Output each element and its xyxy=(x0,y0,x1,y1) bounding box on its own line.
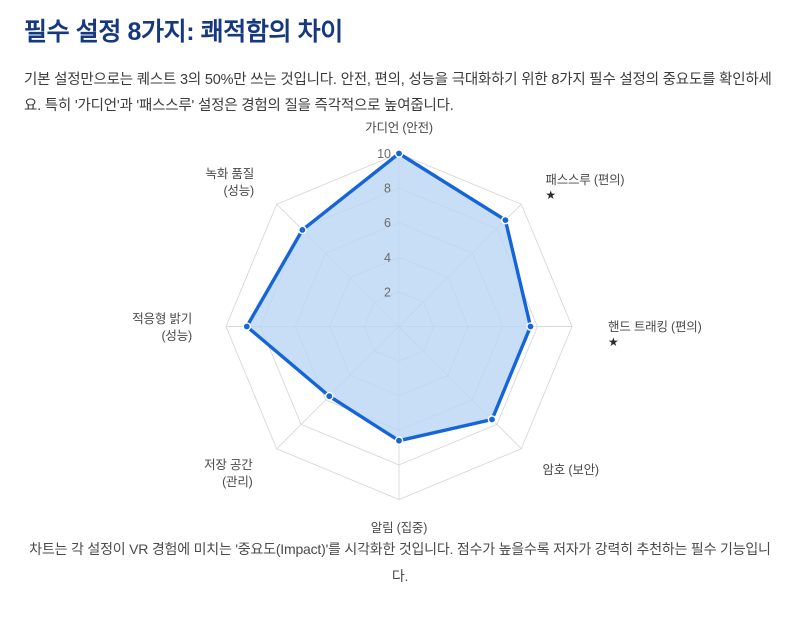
radar-axis-label-line: 알림 (집중) xyxy=(371,520,427,537)
radar-chart: 246810 가디언 (안전)패스스루 (편의)★핸드 트래킹 (편의)★암호 … xyxy=(0,126,800,536)
radar-data-point xyxy=(395,150,402,157)
intro-paragraph: 기본 설정만으로는 퀘스트 3의 50%만 쓰는 것입니다. 안전, 편의, 성… xyxy=(24,67,776,121)
radar-axis-label-line: (성능) xyxy=(132,328,192,345)
radar-axis-label-line: 적응형 밝기 xyxy=(132,311,192,328)
radar-axis-label: 알림 (집중) xyxy=(371,520,427,537)
radar-data-point xyxy=(326,393,333,400)
radar-tick-label: 4 xyxy=(384,251,391,265)
radar-data-point xyxy=(243,323,250,330)
radar-data-point xyxy=(488,416,495,423)
radar-axis-label-line: 저장 공간 xyxy=(204,457,252,474)
radar-tick-label: 10 xyxy=(377,147,391,161)
radar-axis-label-line: 녹화 품질 xyxy=(206,166,254,183)
radar-tick-label: 8 xyxy=(384,182,391,196)
page-title: 필수 설정 8가지: 쾌적함의 차이 xyxy=(24,16,776,49)
star-icon: ★ xyxy=(608,336,702,350)
radar-axis-label: 핸드 트래킹 (편의)★ xyxy=(608,319,702,350)
radar-data-point xyxy=(502,217,509,224)
radar-axis-label-line: (성능) xyxy=(206,183,254,200)
radar-axis-label: 패스스루 (편의)★ xyxy=(545,172,624,203)
radar-axis-label: 암호 (보안) xyxy=(543,462,599,479)
header: 필수 설정 8가지: 쾌적함의 차이 기본 설정만으로는 퀘스트 3의 50%만… xyxy=(0,0,800,120)
radar-data-point xyxy=(527,323,534,330)
radar-axis-label-line: (관리) xyxy=(204,474,252,491)
radar-axis-label-line: 패스스루 (편의) xyxy=(545,172,624,189)
radar-axis-label: 적응형 밝기(성능) xyxy=(132,311,192,345)
radar-data-point xyxy=(395,437,402,444)
radar-data-point xyxy=(299,226,306,233)
radar-axis-label: 저장 공간(관리) xyxy=(204,457,252,491)
radar-tick-label: 6 xyxy=(384,216,391,230)
page-root: 필수 설정 8가지: 쾌적함의 차이 기본 설정만으로는 퀘스트 3의 50%만… xyxy=(0,0,800,628)
radar-axis-label-line: 핸드 트래킹 (편의) xyxy=(608,319,702,336)
radar-axis-label: 가디언 (안전) xyxy=(365,120,433,137)
star-icon: ★ xyxy=(545,189,624,203)
radar-axis-label-line: 암호 (보안) xyxy=(543,462,599,479)
radar-axis-label-line: 가디언 (안전) xyxy=(365,120,433,137)
radar-axis-label: 녹화 품질(성능) xyxy=(206,166,254,200)
radar-tick-label: 2 xyxy=(384,286,391,300)
chart-caption: 차트는 각 설정이 VR 경험에 미치는 '중요도(Impact)'를 시각화한… xyxy=(0,536,800,589)
